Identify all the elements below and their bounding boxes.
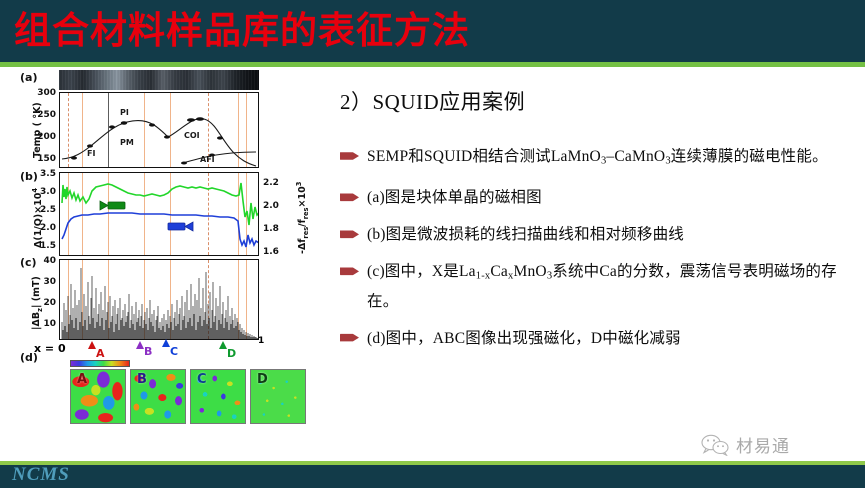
bullet-panel-c: (c)图中，X是La1-xCaxMnO3系统中Ca的分数，震荡信号表明磁场的存在… <box>340 259 858 313</box>
ncms-logo: NCMS <box>12 464 70 486</box>
bullet-arrow-icon <box>340 229 359 239</box>
header-accent-rule <box>0 62 865 67</box>
panel-c-ytick-10: 10 <box>36 319 56 329</box>
panel-d-letter-d: D <box>257 372 268 387</box>
section-heading: 2）SQUID应用案例 <box>340 86 858 116</box>
bullet-panel-d: (d)图中，ABC图像出现强磁化，D中磁化减弱 <box>340 326 858 351</box>
bullet-arrow-icon <box>340 151 359 161</box>
panel-a-region-FI: FI <box>87 149 95 158</box>
panel-a-region-COI: COI <box>184 131 200 140</box>
panel-b-ytick-2p5: 2.5 <box>36 205 56 215</box>
bullet-text: SEMP和SQUID相结合测试LaMnO3–CaMnO3连续薄膜的磁电性能。 <box>367 144 828 173</box>
panel-c-x-end-label: 1 <box>258 336 264 346</box>
panel-c-x-start-label: x = 0 <box>34 342 66 355</box>
panel-c-marker-label-d: D <box>227 347 236 360</box>
panel-c-ytick-40: 40 <box>36 256 56 266</box>
panel-d-image-c: C <box>190 369 246 424</box>
panel-c-marker-label-c: C <box>170 345 178 358</box>
panel-a-region-AFI: AFI <box>200 155 215 164</box>
panel-a-ytick-200: 200 <box>36 132 56 142</box>
bullet-arrow-icon <box>340 333 359 343</box>
panel-c-marker-label-b: B <box>144 345 152 358</box>
panel-c-plot <box>59 259 259 340</box>
panel-b-plot <box>59 172 259 256</box>
panel-c-marker-label-a: A <box>96 347 105 360</box>
panel-a-sample-strip-image <box>59 70 259 90</box>
bullet-text: (d)图中，ABC图像出现强磁化，D中磁化减弱 <box>367 326 681 351</box>
panel-a-ytick-150: 150 <box>36 154 56 164</box>
bullet-arrow-icon <box>340 266 359 276</box>
panel-a-plot: FI PM PI COI AFI <box>59 92 259 168</box>
panel-c-marker-triangle-a <box>88 341 96 349</box>
panel-b-curves <box>60 173 259 256</box>
bullet-panel-b: (b)图是微波损耗的线扫描曲线和相对频移曲线 <box>340 222 858 247</box>
panel-b-ytick-2p0: 2.0 <box>36 223 56 233</box>
panel-b-ytick-1p5: 1.5 <box>36 241 56 251</box>
panel-c-ytick-30: 30 <box>36 277 56 287</box>
panel-c-marker-triangle-c <box>162 339 170 347</box>
panel-c-noise-trace <box>60 260 259 340</box>
watermark-label: 材易通 <box>736 432 790 457</box>
watermark: 材易通 <box>700 432 790 457</box>
bullet-text: (a)图是块体单晶的磁相图 <box>367 185 542 210</box>
panel-b-y-left-axis-title: Δ(1/Q)×104 <box>31 188 44 248</box>
panel-b-ytick-right-1p8: 1.8 <box>263 224 283 234</box>
bullet-list: SEMP和SQUID相结合测试LaMnO3–CaMnO3连续薄膜的磁电性能。(a… <box>340 144 858 351</box>
panel-d-letter-b: B <box>137 372 147 387</box>
panel-b-y-right-axis-title: -Δfres/fres×103 <box>295 182 310 254</box>
bullet-text: (c)图中，X是La1-xCaxMnO3系统中Ca的分数，震荡信号表明磁场的存在… <box>367 259 858 313</box>
panel-c-ytick-20: 20 <box>36 298 56 308</box>
panel-b-ytick-right-2p2: 2.2 <box>263 178 283 188</box>
content-column: 2）SQUID应用案例 SEMP和SQUID相结合测试LaMnO3–CaMnO3… <box>340 86 858 363</box>
bullet-semp-squid: SEMP和SQUID相结合测试LaMnO3–CaMnO3连续薄膜的磁电性能。 <box>340 144 858 173</box>
panel-d-image-b: B <box>130 369 186 424</box>
panel-label-c: (c) <box>20 256 37 269</box>
panel-d-image-d: D <box>250 369 306 424</box>
panel-b-ytick-right-1p6: 1.6 <box>263 247 283 257</box>
slide-footer-bar <box>0 465 865 488</box>
panel-b-ytick-3p0: 3.0 <box>36 187 56 197</box>
page-title: 组合材料样品库的表征方法 <box>14 6 470 56</box>
panel-a-region-PI: PI <box>120 108 129 117</box>
panel-a-ytick-250: 250 <box>36 110 56 120</box>
panel-d-letter-c: C <box>197 372 207 387</box>
panel-d-letter-a: A <box>77 372 87 387</box>
panel-b-ytick-3p5: 3.5 <box>36 169 56 179</box>
panel-a-region-PM: PM <box>120 138 134 147</box>
figure-container: (a) (b) (c) (d) Temp ( °K) 300 250 200 1… <box>14 68 314 443</box>
panel-c-marker-triangle-b <box>136 341 144 349</box>
rainbow-colorbar <box>70 360 130 367</box>
bullet-panel-a: (a)图是块体单晶的磁相图 <box>340 185 858 210</box>
panel-b-ytick-right-2p0: 2.0 <box>263 201 283 211</box>
panel-a-ytick-300: 300 <box>36 88 56 98</box>
slide-root: 组合材料样品库的表征方法 (a) (b) (c) (d) Temp ( °K) … <box>0 0 865 488</box>
wechat-icon <box>700 434 730 456</box>
bullet-text: (b)图是微波损耗的线扫描曲线和相对频移曲线 <box>367 222 684 247</box>
bullet-arrow-icon <box>340 192 359 202</box>
panel-label-a: (a) <box>20 71 37 84</box>
panel-d-image-a: A <box>70 369 126 424</box>
panel-c-marker-triangle-d <box>219 341 227 349</box>
